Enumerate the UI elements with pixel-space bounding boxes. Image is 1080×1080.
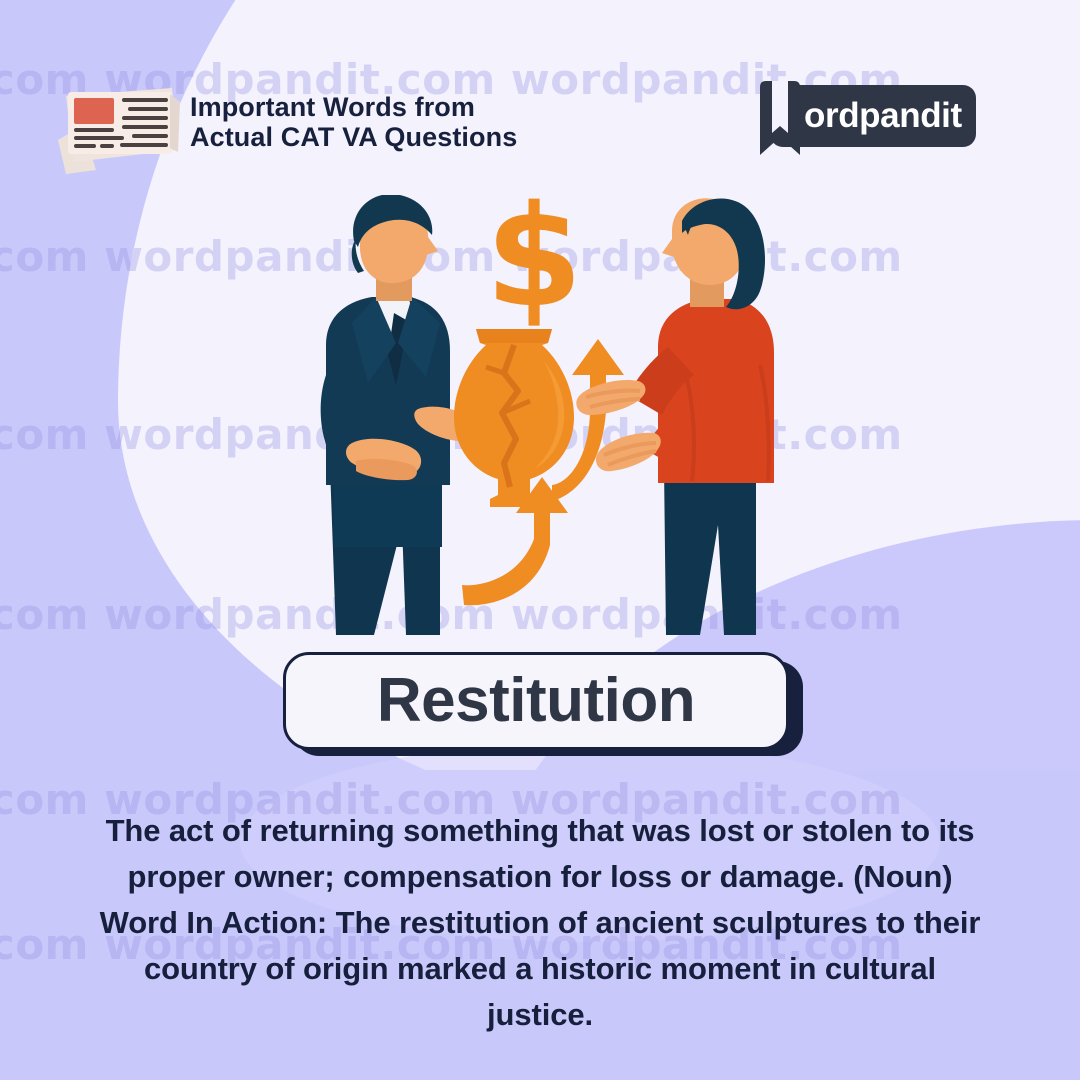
word-in-action-line: justice. [30,992,1050,1038]
definition-line: proper owner; compensation for loss or d… [30,854,1050,900]
word-in-action-line: country of origin marked a historic mome… [30,946,1050,992]
logo-text: ordpandit [804,85,962,147]
page-title-line2: Actual CAT VA Questions [190,122,517,152]
definition-block: The act of returning something that was … [30,808,1050,1038]
page-title: Important Words from Actual CAT VA Quest… [190,92,517,152]
bookmark-icon [756,81,804,163]
word-badge: Restitution [283,652,803,756]
restitution-illustration: $ [290,195,790,655]
page-title-line1: Important Words from [190,92,517,122]
cracked-vase-icon [454,329,574,507]
header: Important Words from Actual CAT VA Quest… [0,0,1080,190]
word-card: it.com wordpandit.com wordpandit.com it.… [0,0,1080,1080]
vocabulary-word: Restitution [377,670,695,732]
svg-text:$: $ [485,195,582,339]
woman-figure [576,198,774,635]
word-in-action-line: Word In Action: The restitution of ancie… [30,900,1050,946]
dollar-sign-icon: $ [485,195,582,339]
definition-line: The act of returning something that was … [30,808,1050,854]
word-badge-face: Restitution [283,652,789,750]
newspaper-icon [52,78,184,174]
wordpandit-logo[interactable]: ordpandit [748,85,976,147]
businessman-figure [321,195,476,635]
